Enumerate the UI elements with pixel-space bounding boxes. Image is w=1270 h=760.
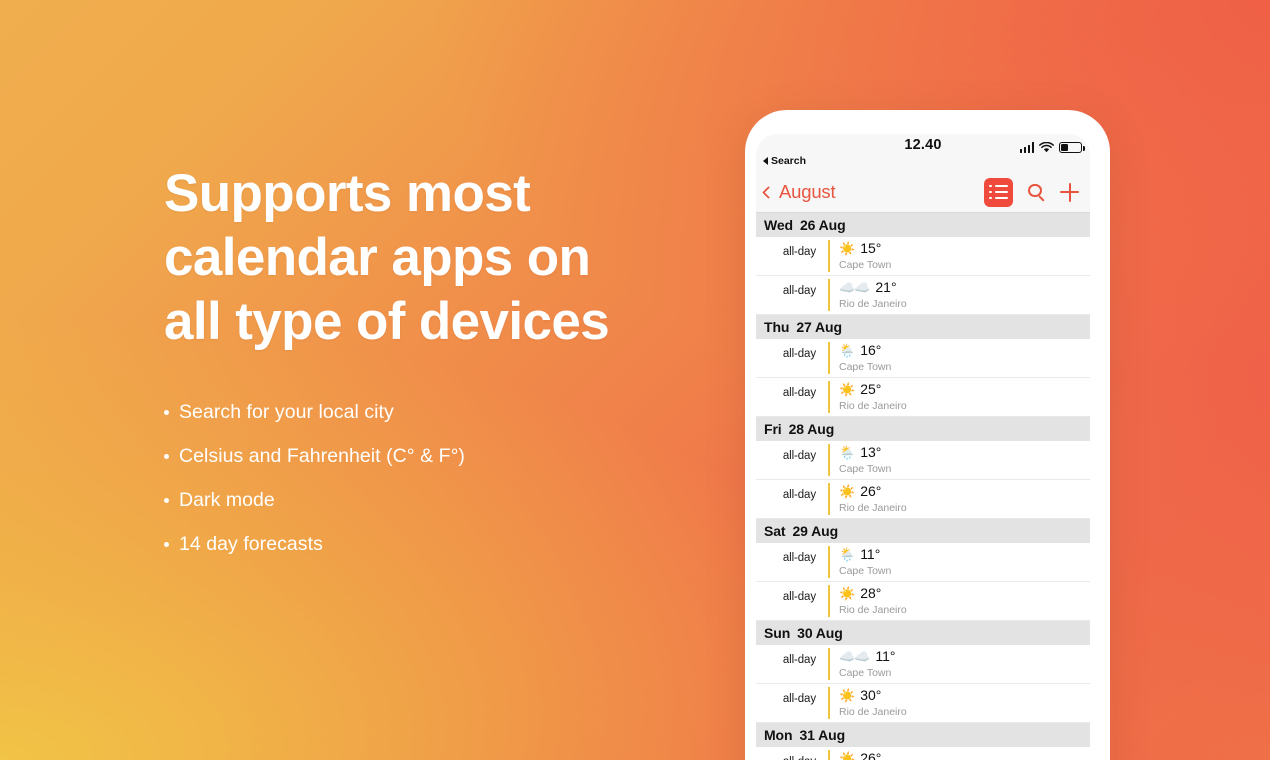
day-header-weekday: Sat	[764, 523, 786, 539]
sun-icon: ☀️	[839, 240, 854, 257]
table-row[interactable]: all-day☁️☁️21°Rio de Janeiro	[756, 276, 1090, 315]
event-temperature: 26°	[860, 483, 881, 500]
event-body: ☀️28°Rio de Janeiro	[830, 582, 907, 620]
day-header-date: 26 Aug	[800, 217, 846, 233]
event-body: ☁️☁️11°Cape Town	[830, 645, 896, 683]
headline-line-3: all type of devices	[164, 290, 724, 354]
back-button-august[interactable]: August	[764, 181, 835, 203]
event-title: 🌦️16°	[839, 342, 891, 359]
list-item: Celsius and Fahrenheit (C° & F°)	[164, 444, 724, 468]
list-item: Dark mode	[164, 488, 724, 512]
event-city: Cape Town	[839, 564, 891, 578]
day-header: Sat29 Aug	[756, 519, 1090, 543]
event-time: all-day	[756, 339, 828, 377]
list-view-icon[interactable]	[984, 178, 1013, 207]
list-item: Search for your local city	[164, 400, 724, 424]
table-row[interactable]: all-day☀️26°Cape Town	[756, 747, 1090, 760]
event-temperature: 11°	[860, 546, 880, 563]
event-temperature: 13°	[860, 444, 881, 461]
event-time: all-day	[756, 684, 828, 722]
event-body: 🌦️13°Cape Town	[830, 441, 891, 479]
event-temperature: 30°	[860, 687, 881, 704]
status-bar: 12.40 Search	[756, 134, 1090, 172]
event-title: ☀️26°	[839, 750, 891, 760]
event-temperature: 28°	[860, 585, 881, 602]
phone-mockup: 12.40 Search August	[745, 110, 1110, 760]
event-time: all-day	[756, 480, 828, 518]
table-row[interactable]: all-day🌦️11°Cape Town	[756, 543, 1090, 582]
sun-behind-rain-cloud-icon: 🌦️	[839, 444, 854, 461]
event-city: Rio de Janeiro	[839, 603, 907, 617]
bullet-dot-icon	[164, 498, 169, 503]
event-time: all-day	[756, 378, 828, 416]
event-title: ☁️☁️21°	[839, 279, 907, 296]
status-bar-indicators	[1020, 142, 1083, 153]
event-body: ☀️26°Cape Town	[830, 747, 891, 760]
event-city: Cape Town	[839, 462, 891, 476]
battery-low-icon	[1059, 142, 1082, 153]
cellular-signal-icon	[1020, 142, 1035, 153]
feature-label: 14 day forecasts	[179, 533, 323, 555]
event-body: ☀️25°Rio de Janeiro	[830, 378, 907, 416]
day-header-date: 31 Aug	[799, 727, 845, 743]
event-title: ☀️26°	[839, 483, 907, 500]
day-header: Mon31 Aug	[756, 723, 1090, 747]
day-header-date: 29 Aug	[793, 523, 839, 539]
day-header-weekday: Sun	[764, 625, 790, 641]
event-title: ☀️30°	[839, 687, 907, 704]
event-time: all-day	[756, 747, 828, 760]
event-city: Cape Town	[839, 666, 896, 680]
event-title: ☀️25°	[839, 381, 907, 398]
event-time: all-day	[756, 441, 828, 479]
day-header: Wed26 Aug	[756, 213, 1090, 237]
back-triangle-icon	[763, 157, 768, 165]
bullet-dot-icon	[164, 410, 169, 415]
table-row[interactable]: all-day☀️26°Rio de Janeiro	[756, 480, 1090, 519]
table-row[interactable]: all-day☁️☁️11°Cape Town	[756, 645, 1090, 684]
day-header-weekday: Fri	[764, 421, 782, 437]
event-temperature: 15°	[860, 240, 881, 257]
event-body: ☁️☁️21°Rio de Janeiro	[830, 276, 907, 314]
day-header-date: 27 Aug	[796, 319, 842, 335]
day-header: Sun30 Aug	[756, 621, 1090, 645]
sun-icon: ☀️	[839, 585, 854, 602]
sun-icon: ☀️	[839, 750, 854, 760]
calendar-day-list[interactable]: Wed26 Augall-day☀️15°Cape Townall-day☁️☁…	[756, 213, 1090, 760]
marketing-panel: Supports most calendar apps on all type …	[164, 162, 724, 556]
event-body: ☀️30°Rio de Janeiro	[830, 684, 907, 722]
feature-list: Search for your local city Celsius and F…	[164, 400, 724, 556]
sun-behind-rain-cloud-icon: 🌦️	[839, 546, 854, 563]
bullet-dot-icon	[164, 454, 169, 459]
status-bar-back-label: Search	[771, 155, 806, 167]
event-body: 🌦️16°Cape Town	[830, 339, 891, 377]
table-row[interactable]: all-day☀️25°Rio de Janeiro	[756, 378, 1090, 417]
headline-line-1: Supports most	[164, 162, 724, 226]
table-row[interactable]: all-day🌦️13°Cape Town	[756, 441, 1090, 480]
back-button-label: August	[779, 181, 835, 203]
event-title: ☀️28°	[839, 585, 907, 602]
event-time: all-day	[756, 543, 828, 581]
feature-label: Search for your local city	[179, 401, 394, 423]
sun-icon: ☀️	[839, 687, 854, 704]
event-time: all-day	[756, 237, 828, 275]
headline-line-2: calendar apps on	[164, 226, 724, 290]
event-title: 🌦️13°	[839, 444, 891, 461]
event-temperature: 21°	[875, 279, 896, 296]
status-bar-back-to-search[interactable]: Search	[763, 155, 806, 167]
event-body: ☀️26°Rio de Janeiro	[830, 480, 907, 518]
sun-icon: ☀️	[839, 381, 854, 398]
event-temperature: 11°	[875, 648, 895, 665]
day-header-weekday: Wed	[764, 217, 793, 233]
event-city: Rio de Janeiro	[839, 705, 907, 719]
day-header: Thu27 Aug	[756, 315, 1090, 339]
event-title: ☁️☁️11°	[839, 648, 896, 665]
event-temperature: 16°	[860, 342, 881, 359]
search-icon[interactable]	[1028, 184, 1045, 201]
event-body: ☀️15°Cape Town	[830, 237, 891, 275]
event-title: 🌦️11°	[839, 546, 891, 563]
day-header-date: 28 Aug	[789, 421, 835, 437]
event-temperature: 25°	[860, 381, 881, 398]
cloud-cloud-icon: ☁️☁️	[839, 648, 869, 665]
plus-icon[interactable]	[1060, 183, 1079, 202]
event-title: ☀️15°	[839, 240, 891, 257]
feature-label: Dark mode	[179, 489, 275, 511]
sun-icon: ☀️	[839, 483, 854, 500]
day-header-weekday: Thu	[764, 319, 789, 335]
wifi-icon	[1039, 142, 1054, 153]
event-city: Rio de Janeiro	[839, 297, 907, 311]
event-temperature: 26°	[860, 750, 881, 760]
navigation-bar: August	[756, 172, 1090, 213]
cloud-cloud-icon: ☁️☁️	[839, 279, 869, 296]
event-time: all-day	[756, 582, 828, 620]
chevron-left-icon	[762, 186, 775, 199]
event-body: 🌦️11°Cape Town	[830, 543, 891, 581]
event-city: Cape Town	[839, 258, 891, 272]
sun-behind-rain-cloud-icon: 🌦️	[839, 342, 854, 359]
event-city: Cape Town	[839, 360, 891, 374]
event-time: all-day	[756, 276, 828, 314]
table-row[interactable]: all-day🌦️16°Cape Town	[756, 339, 1090, 378]
feature-label: Celsius and Fahrenheit (C° & F°)	[179, 445, 465, 467]
day-header-weekday: Mon	[764, 727, 792, 743]
page-title: Supports most calendar apps on all type …	[164, 162, 724, 354]
table-row[interactable]: all-day☀️15°Cape Town	[756, 237, 1090, 276]
table-row[interactable]: all-day☀️30°Rio de Janeiro	[756, 684, 1090, 723]
day-header: Fri28 Aug	[756, 417, 1090, 441]
event-city: Rio de Janeiro	[839, 399, 907, 413]
day-header-date: 30 Aug	[797, 625, 843, 641]
event-time: all-day	[756, 645, 828, 683]
bullet-dot-icon	[164, 542, 169, 547]
phone-screen: 12.40 Search August	[756, 134, 1090, 760]
event-city: Rio de Janeiro	[839, 501, 907, 515]
table-row[interactable]: all-day☀️28°Rio de Janeiro	[756, 582, 1090, 621]
list-item: 14 day forecasts	[164, 532, 724, 556]
navigation-actions	[984, 178, 1079, 207]
